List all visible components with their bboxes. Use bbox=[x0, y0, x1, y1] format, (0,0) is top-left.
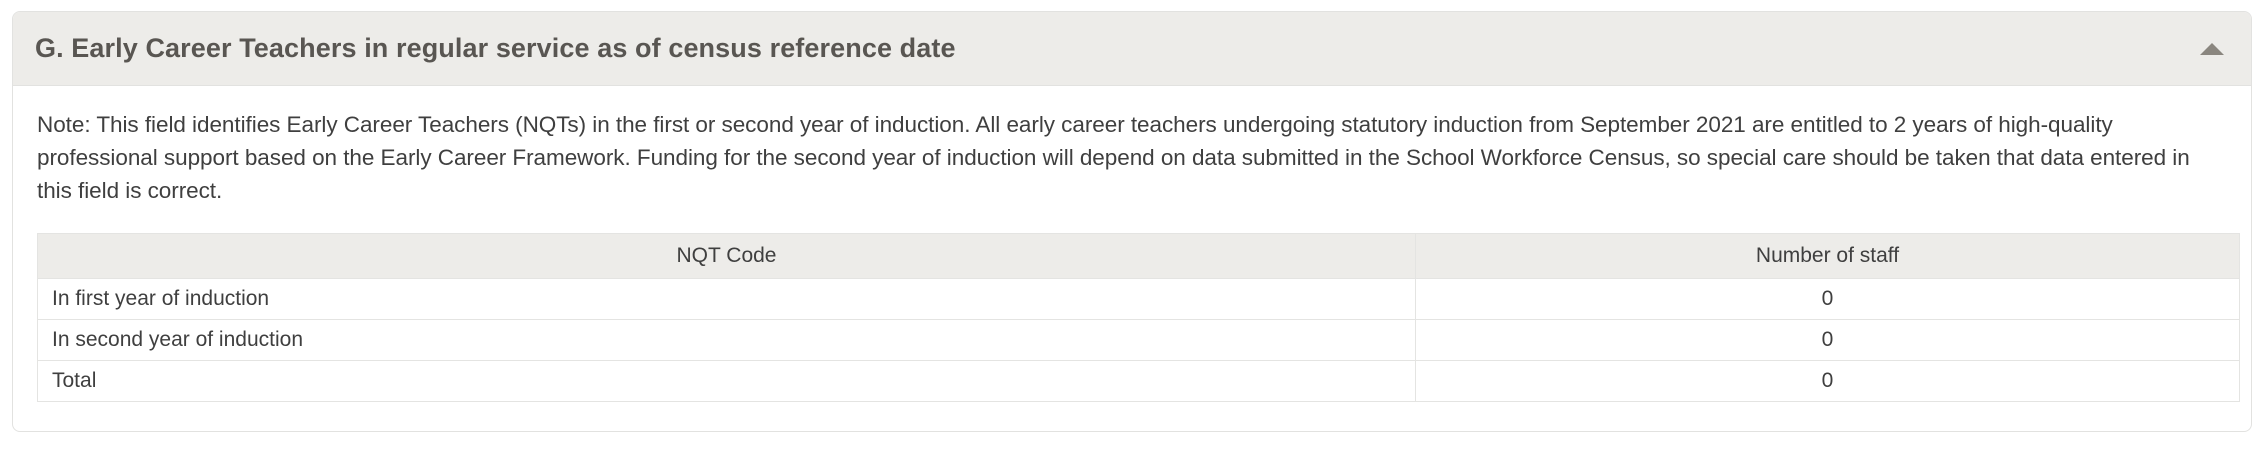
column-header-number-of-staff: Number of staff bbox=[1416, 234, 2240, 279]
table-row: Total 0 bbox=[38, 361, 2240, 402]
panel-header[interactable]: G. Early Career Teachers in regular serv… bbox=[13, 12, 2251, 86]
field-note: Note: This field identifies Early Career… bbox=[37, 108, 2227, 207]
row-label-total: Total bbox=[38, 361, 1416, 402]
nqt-table: NQT Code Number of staff In first year o… bbox=[37, 233, 2240, 402]
row-label-first-year: In first year of induction bbox=[38, 279, 1416, 320]
column-header-nqt-code: NQT Code bbox=[38, 234, 1416, 279]
row-label-second-year: In second year of induction bbox=[38, 320, 1416, 361]
page-title: G. Early Career Teachers in regular serv… bbox=[35, 32, 956, 64]
row-value-first-year: 0 bbox=[1416, 279, 2240, 320]
panel-body: Note: This field identifies Early Career… bbox=[13, 86, 2251, 402]
table-header-row: NQT Code Number of staff bbox=[38, 234, 2240, 279]
row-value-second-year: 0 bbox=[1416, 320, 2240, 361]
triangle-up-icon[interactable] bbox=[2195, 32, 2229, 66]
row-value-total: 0 bbox=[1416, 361, 2240, 402]
table-row: In first year of induction 0 bbox=[38, 279, 2240, 320]
early-career-teachers-panel: G. Early Career Teachers in regular serv… bbox=[12, 11, 2252, 432]
table-row: In second year of induction 0 bbox=[38, 320, 2240, 361]
